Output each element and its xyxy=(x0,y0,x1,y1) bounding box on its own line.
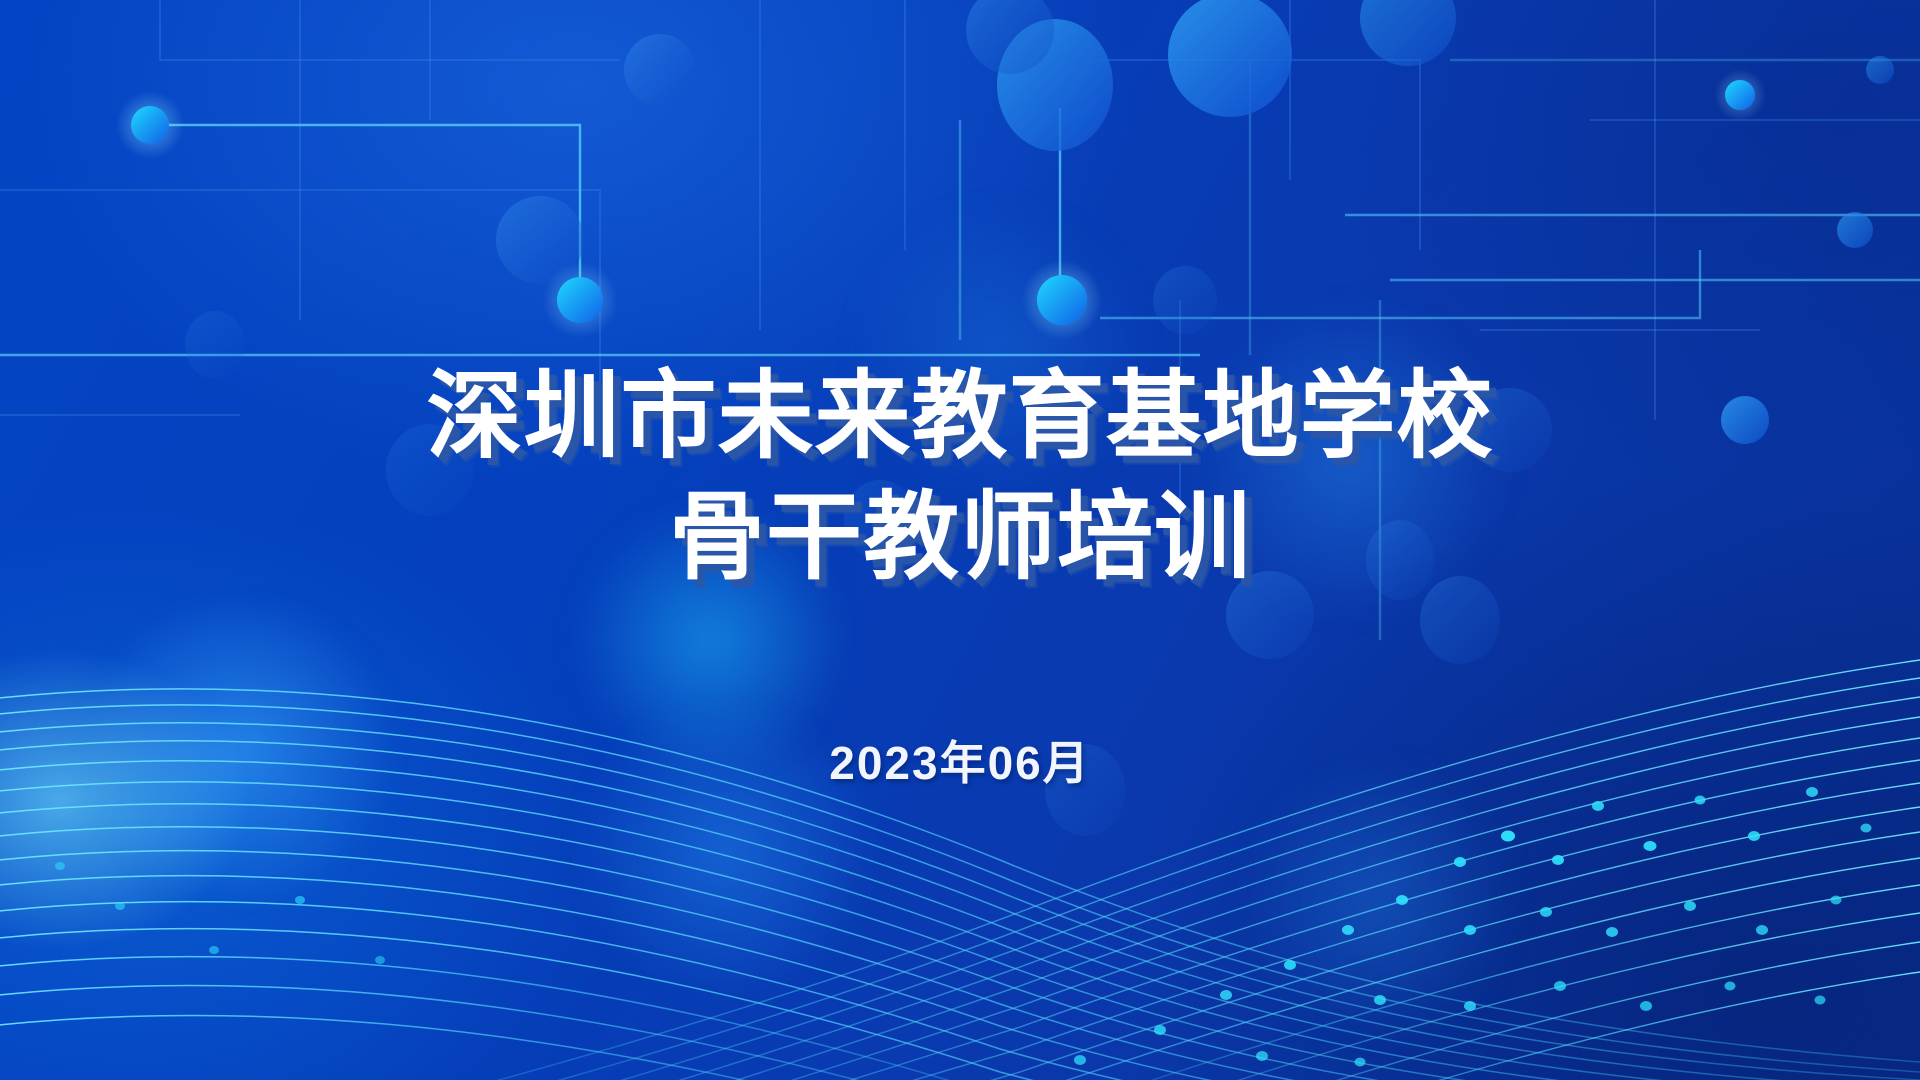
slide-content: 深圳市未来教育基地学校 骨干教师培训 2023年06月 xyxy=(0,0,1920,1080)
slide-date: 2023年06月 xyxy=(829,727,1091,793)
slide-title-line-1: 深圳市未来教育基地学校 xyxy=(427,360,1494,473)
slide-title-line-2: 骨干教师培训 xyxy=(427,481,1494,594)
title-slide: 深圳市未来教育基地学校 骨干教师培训 2023年06月 xyxy=(0,0,1920,1080)
title-block: 深圳市未来教育基地学校 骨干教师培训 xyxy=(427,360,1494,595)
